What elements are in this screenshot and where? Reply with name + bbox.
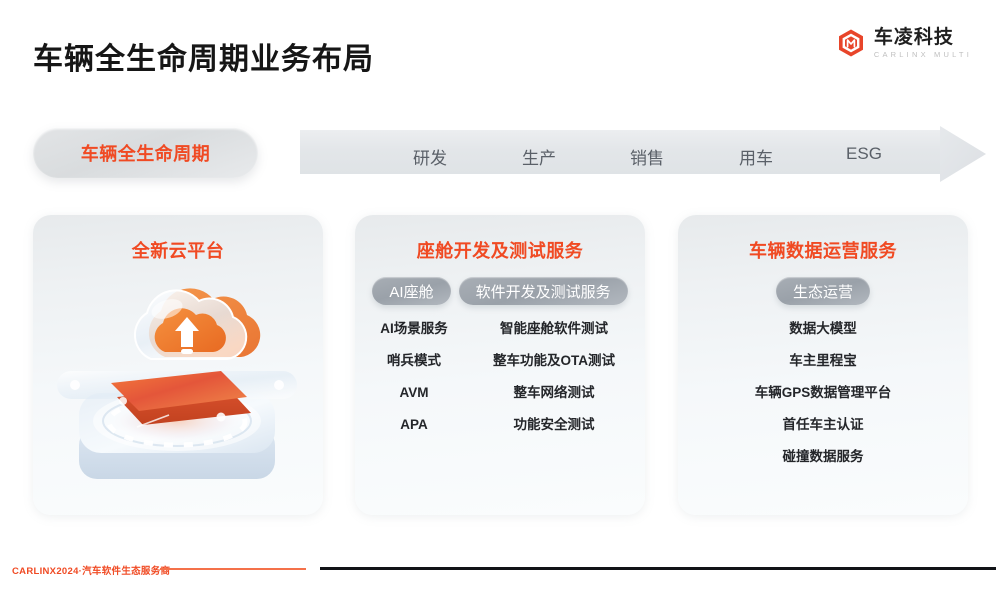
- tag-ai-cockpit[interactable]: AI座舱: [372, 277, 450, 305]
- brand-logo: 车凌科技 CARLINX MULTI: [836, 28, 972, 59]
- logo-name-cn: 车凌科技: [874, 28, 972, 47]
- card-columns: AI场景服务 哨兵模式 AVM APA 智能座舱软件测试 整车功能及OTA测试 …: [355, 313, 645, 441]
- list-item: 首任车主认证: [783, 409, 864, 441]
- card-tag-row: 生态运营: [678, 277, 968, 305]
- list-item: 车辆GPS数据管理平台: [755, 377, 892, 409]
- list-item: 整车功能及OTA测试: [493, 345, 615, 377]
- tag-ecosystem-operations[interactable]: 生态运营: [776, 277, 870, 305]
- footer-tagline: CARLINX2024·汽车软件生态服务商: [12, 563, 170, 577]
- column-software-dev-test: 智能座舱软件测试 整车功能及OTA测试 整车网络测试 功能安全测试: [468, 313, 640, 441]
- tag-software-dev-test[interactable]: 软件开发及测试服务: [459, 277, 628, 305]
- list-item: 智能座舱软件测试: [500, 313, 608, 345]
- list-item: APA: [400, 409, 428, 441]
- footer-rule-orange: [160, 568, 306, 570]
- lifecycle-pill[interactable]: 车辆全生命周期: [33, 128, 258, 178]
- process-arrow: 研发 生产 销售 用车 ESG: [300, 126, 990, 188]
- list-item: 整车网络测试: [514, 377, 595, 409]
- list-item: 车主里程宝: [789, 345, 857, 377]
- list-item: 碰撞数据服务: [783, 441, 864, 473]
- slide-footer: CARLINX2024·汽车软件生态服务商: [0, 554, 996, 600]
- logo-name-en: CARLINX MULTI: [874, 51, 972, 59]
- list-item: 数据大模型: [789, 313, 857, 345]
- phase-label-0: 研发: [413, 144, 447, 169]
- phase-label-1: 生产: [522, 144, 556, 169]
- column-ecosystem-operations: 数据大模型 车主里程宝 车辆GPS数据管理平台 首任车主认证 碰撞数据服务: [678, 313, 968, 473]
- list-item: AVM: [400, 377, 429, 409]
- card-cockpit-dev-test[interactable]: 座舱开发及测试服务 AI座舱 软件开发及测试服务 AI场景服务 哨兵模式 AVM…: [355, 215, 645, 515]
- logo-wordmark: 车凌科技 CARLINX MULTI: [874, 28, 972, 59]
- card-title: 车辆数据运营服务: [678, 237, 968, 263]
- list-item: AI场景服务: [380, 313, 448, 345]
- phase-label-4: ESG: [846, 144, 882, 164]
- phase-label-3: 用车: [739, 144, 773, 169]
- list-item: 功能安全测试: [514, 409, 595, 441]
- card-tag-row: AI座舱 软件开发及测试服务: [355, 277, 645, 305]
- card-vehicle-data-operations[interactable]: 车辆数据运营服务 生态运营 数据大模型 车主里程宝 车辆GPS数据管理平台 首任…: [678, 215, 968, 515]
- card-title: 座舱开发及测试服务: [355, 237, 645, 263]
- lifecycle-pill-label: 车辆全生命周期: [81, 140, 211, 166]
- card-cloud-platform[interactable]: 全新云平台: [33, 215, 323, 515]
- list-item: 哨兵模式: [387, 345, 441, 377]
- phase-labels: 研发 生产 销售 用车 ESG: [300, 126, 990, 188]
- column-ai-cockpit: AI场景服务 哨兵模式 AVM APA: [360, 313, 468, 441]
- footer-rule-dark: [320, 567, 996, 570]
- hexagon-m-icon: [836, 28, 866, 58]
- card-columns: 数据大模型 车主里程宝 车辆GPS数据管理平台 首任车主认证 碰撞数据服务: [678, 313, 968, 473]
- page-title: 车辆全生命周期业务布局: [33, 34, 374, 78]
- slide-root: 车辆全生命周期业务布局 车凌科技 CARLINX MULTI 车辆全生命周期: [0, 0, 996, 600]
- card-title: 全新云平台: [33, 237, 323, 263]
- phase-label-2: 销售: [630, 144, 664, 169]
- cloud-upload-3d-icon: [51, 275, 305, 505]
